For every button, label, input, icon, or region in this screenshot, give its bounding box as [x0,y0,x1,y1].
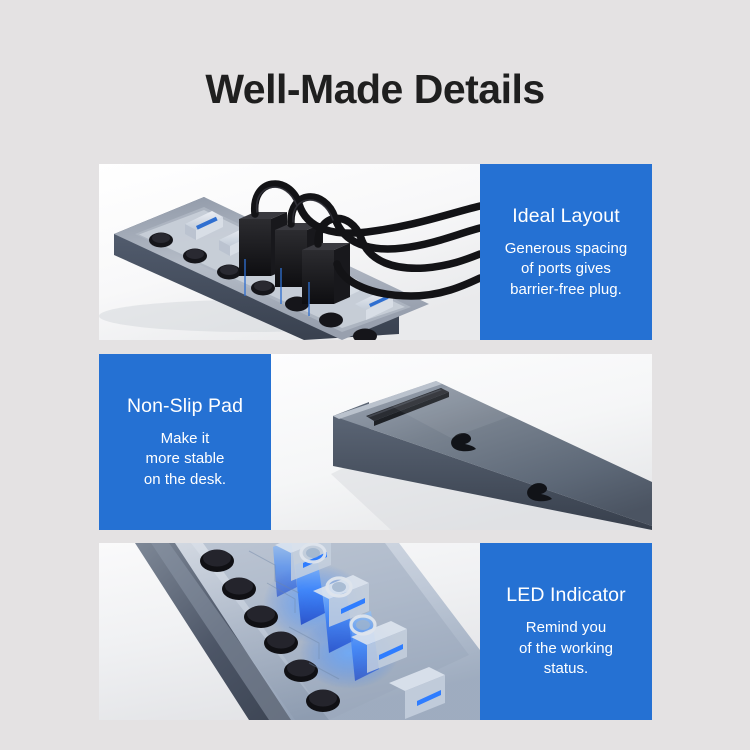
page-title: Well-Made Details [0,64,750,114]
product-photo-underside [271,354,652,530]
feature-body-line: of ports gives [505,259,628,280]
feature-card-ideal-layout: Ideal Layout Generous spacing of ports g… [99,164,652,340]
feature-title: LED Indicator [506,583,625,607]
feature-body: Remind you of the working status. [519,618,613,680]
feature-panel-led-indicator: LED Indicator Remind you of the working … [480,543,652,720]
product-photo-led [99,543,480,720]
feature-card-non-slip-pad: Non-Slip Pad Make it more stable on the … [99,354,652,530]
feature-body-line: Remind you [519,618,613,639]
feature-title: Ideal Layout [512,204,619,228]
feature-body-line: status. [519,659,613,680]
feature-body-line: more stable [144,449,226,470]
feature-panel-non-slip-pad: Non-Slip Pad Make it more stable on the … [99,354,271,530]
feature-body-line: Generous spacing [505,239,628,260]
feature-body-line: of the working [519,639,613,660]
infographic-page: Well-Made Details [0,0,750,750]
product-photo-cables [99,164,480,340]
feature-body: Generous spacing of ports gives barrier-… [505,239,628,301]
feature-body-line: Make it [144,429,226,450]
feature-title: Non-Slip Pad [127,394,243,418]
feature-panel-ideal-layout: Ideal Layout Generous spacing of ports g… [480,164,652,340]
feature-body-line: on the desk. [144,470,226,491]
feature-body-line: barrier-free plug. [505,280,628,301]
feature-card-led-indicator: LED Indicator Remind you of the working … [99,543,652,720]
feature-body: Make it more stable on the desk. [144,429,226,491]
